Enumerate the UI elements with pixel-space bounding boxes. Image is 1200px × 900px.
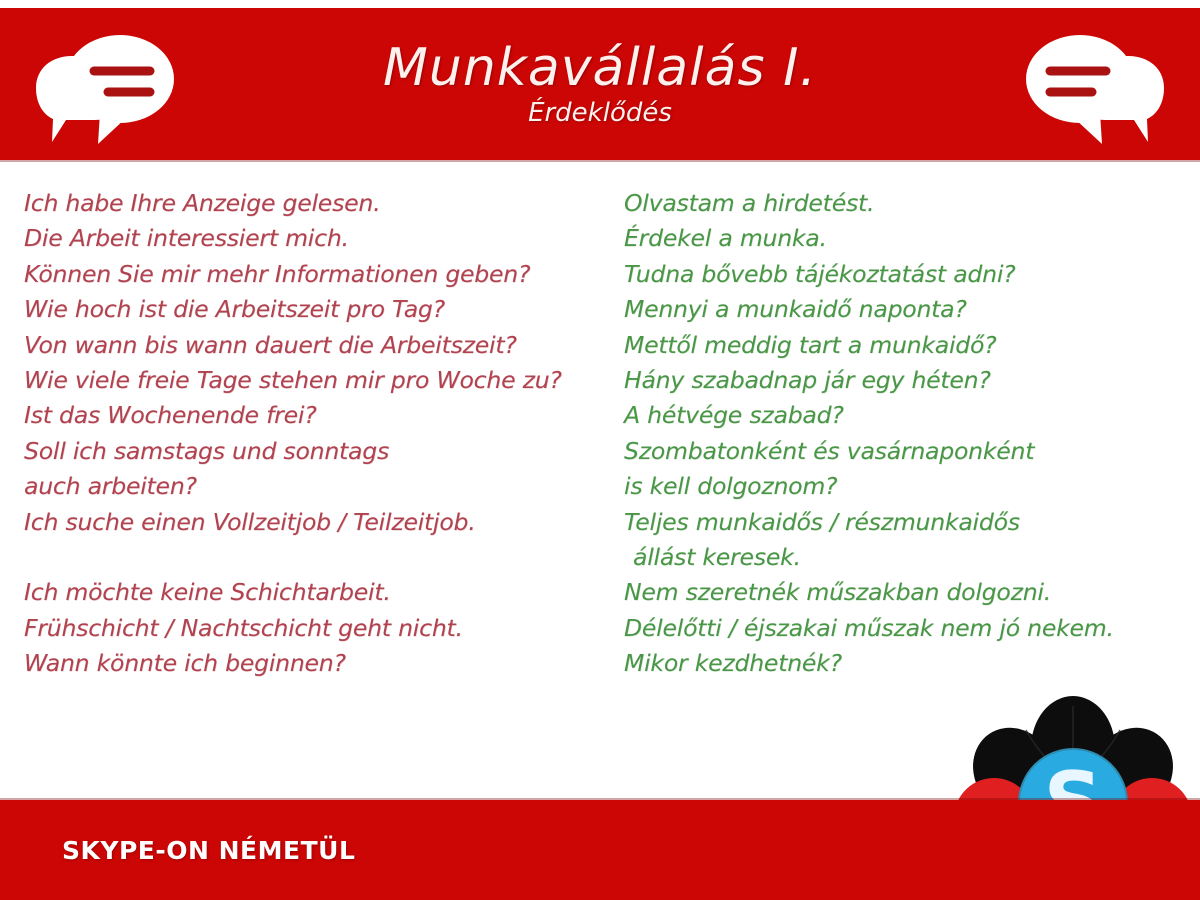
slide-root: Munkavállalás I. Érdeklődés [0, 0, 1200, 900]
phrase-line: Die Arbeit interessiert mich. [24, 221, 614, 256]
header-band: Munkavállalás I. Érdeklődés [0, 8, 1200, 160]
phrase-line: Wie viele freie Tage stehen mir pro Woch… [24, 363, 614, 398]
phrase-line: Mennyi a munkaidő naponta? [624, 292, 1194, 327]
phrase-line: állást keresek. [624, 540, 1194, 575]
phrase-line: Mikor kezdhetnék? [624, 646, 1194, 681]
german-phrase-column: Ich habe Ihre Anzeige gelesen. Die Arbei… [24, 186, 614, 681]
phrase-line: Nem szeretnék műszakban dolgozni. [624, 575, 1194, 610]
phrase-line: Délelőtti / éjszakai műszak nem jó nekem… [624, 611, 1194, 646]
phrase-line: Mettől meddig tart a munkaidő? [624, 328, 1194, 363]
phrase-line: Ist das Wochenende frei? [24, 398, 614, 433]
phrase-line: Érdekel a munka. [624, 221, 1194, 256]
phrase-line: Tudna bővebb tájékoztatást adni? [624, 257, 1194, 292]
phrase-line: Ich habe Ihre Anzeige gelesen. [24, 186, 614, 221]
phrase-line: auch arbeiten? [24, 469, 614, 504]
phrase-line-spacer [24, 540, 614, 575]
phrase-line: is kell dolgoznom? [624, 469, 1194, 504]
footer-band: SKYPE-ON NÉMETÜL [0, 800, 1200, 900]
hungarian-phrase-column: Olvastam a hirdetést. Érdekel a munka. T… [624, 186, 1194, 681]
phrase-line: Frühschicht / Nachtschicht geht nicht. [24, 611, 614, 646]
phrase-line: Olvastam a hirdetést. [624, 186, 1194, 221]
page-subtitle: Érdeklődés [528, 100, 672, 126]
speech-bubbles-icon-right [1008, 26, 1178, 154]
phrase-line: Wann könnte ich beginnen? [24, 646, 614, 681]
page-title: Munkavállalás I. [383, 42, 817, 94]
phrase-line: Ich möchte keine Schichtarbeit. [24, 575, 614, 610]
phrase-columns: Ich habe Ihre Anzeige gelesen. Die Arbei… [0, 186, 1200, 706]
phrase-line: Von wann bis wann dauert die Arbeitszeit… [24, 328, 614, 363]
phrase-line: Szombatonként és vasárnaponként [624, 434, 1194, 469]
phrase-line: Teljes munkaidős / részmunkaidős [624, 505, 1194, 540]
phrase-line: A hétvége szabad? [624, 398, 1194, 433]
brand-label: SKYPE-ON NÉMETÜL [62, 836, 355, 865]
phrase-line: Können Sie mir mehr Informationen geben? [24, 257, 614, 292]
phrase-line: Soll ich samstags und sonntags [24, 434, 614, 469]
phrase-line: Wie hoch ist die Arbeitszeit pro Tag? [24, 292, 614, 327]
phrase-line: Hány szabadnap jár egy héten? [624, 363, 1194, 398]
phrase-line: Ich suche einen Vollzeitjob / Teilzeitjo… [24, 505, 614, 540]
